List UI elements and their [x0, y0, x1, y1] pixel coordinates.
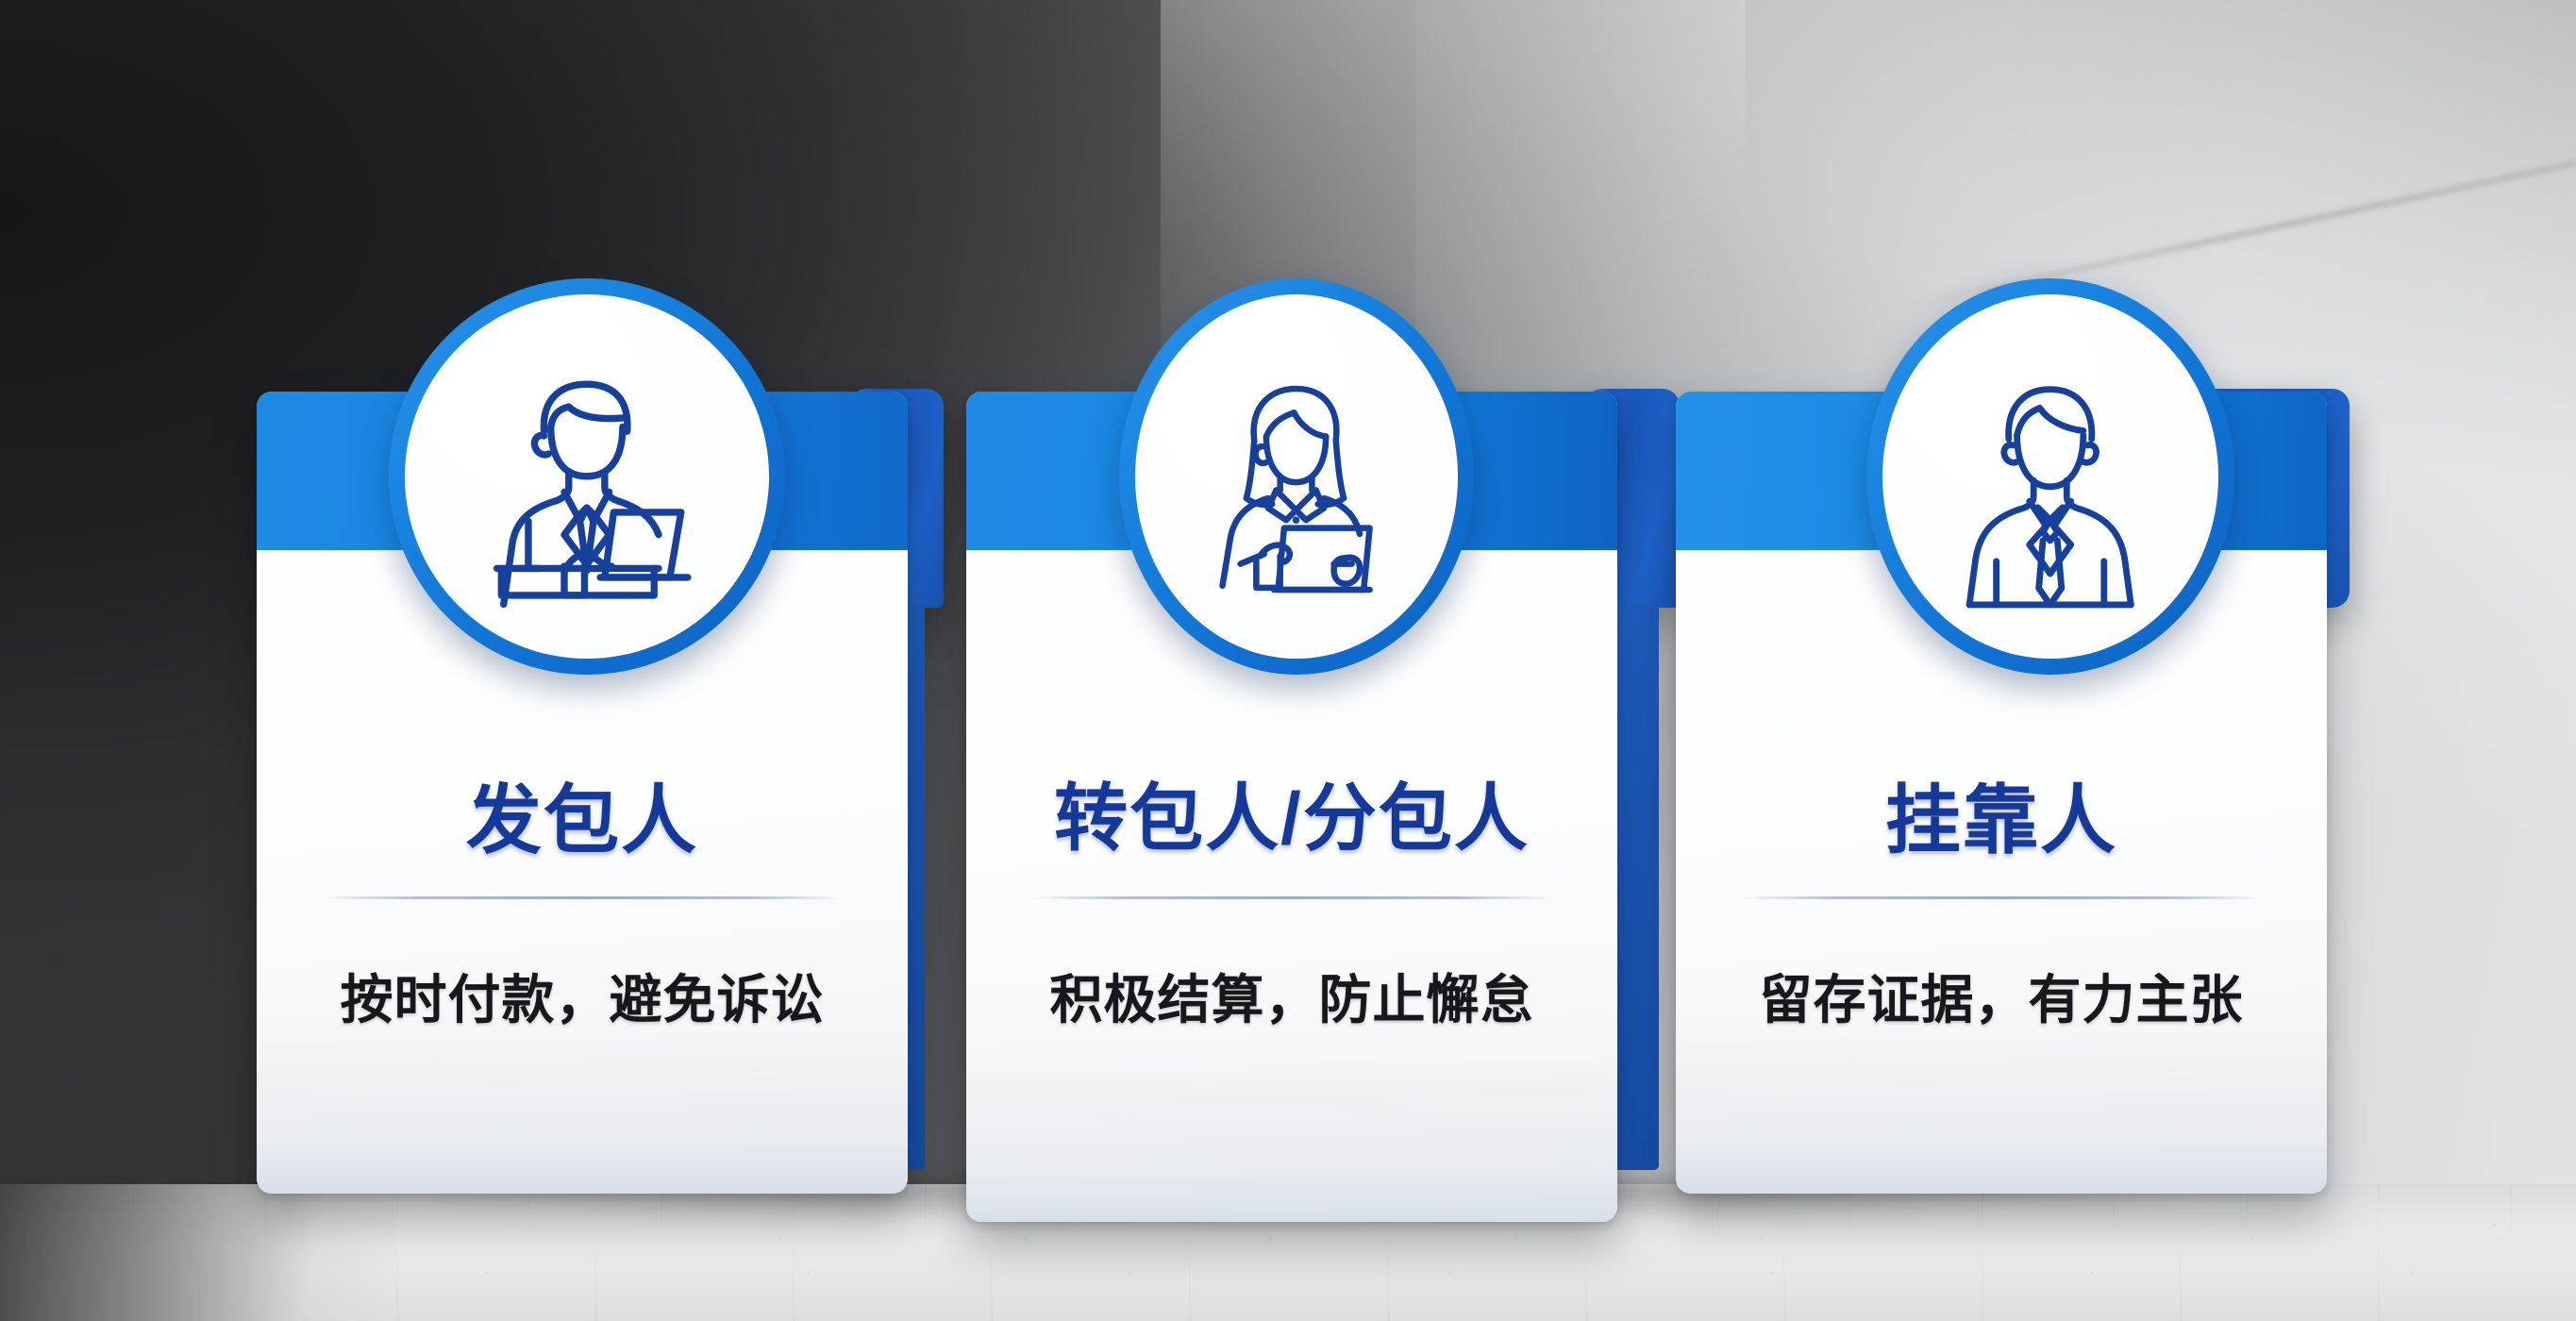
- card-2-title: 转包人/分包人: [966, 760, 1617, 865]
- card-2-gloss: [966, 1043, 1617, 1222]
- card-3-divider: [1742, 896, 2261, 899]
- card-1-icon-wrap: [405, 294, 769, 659]
- card-2-divider: [1032, 896, 1551, 899]
- businessman-portrait-icon: [1926, 342, 2174, 611]
- card-1-subtitle: 按时付款，避免诉讼: [257, 958, 908, 1034]
- card-1-icon-badge[interactable]: [389, 278, 785, 675]
- card-1-divider: [323, 896, 842, 899]
- card-2-subtitle: 积极结算，防止懈怠: [966, 958, 1617, 1034]
- card-1-title: 发包人: [257, 760, 908, 869]
- card-3-icon-wrap: [1882, 294, 2218, 659]
- businessman-at-desk-icon: [452, 342, 722, 611]
- card-1-gloss: [257, 1014, 908, 1194]
- card-2-icon-wrap: [1135, 294, 1458, 659]
- card-3-title: 挂靠人: [1676, 760, 2327, 869]
- info-panel-group: 发包人 按时付款，避免诉讼: [0, 0, 2576, 1321]
- businesswoman-with-clipboard-icon: [1177, 342, 1415, 611]
- card-3-gloss: [1676, 1014, 2327, 1194]
- card-3-subtitle: 留存证据，有力主张: [1676, 958, 2327, 1034]
- card-3-icon-badge[interactable]: [1866, 278, 2234, 675]
- card-2-icon-badge[interactable]: [1119, 278, 1474, 675]
